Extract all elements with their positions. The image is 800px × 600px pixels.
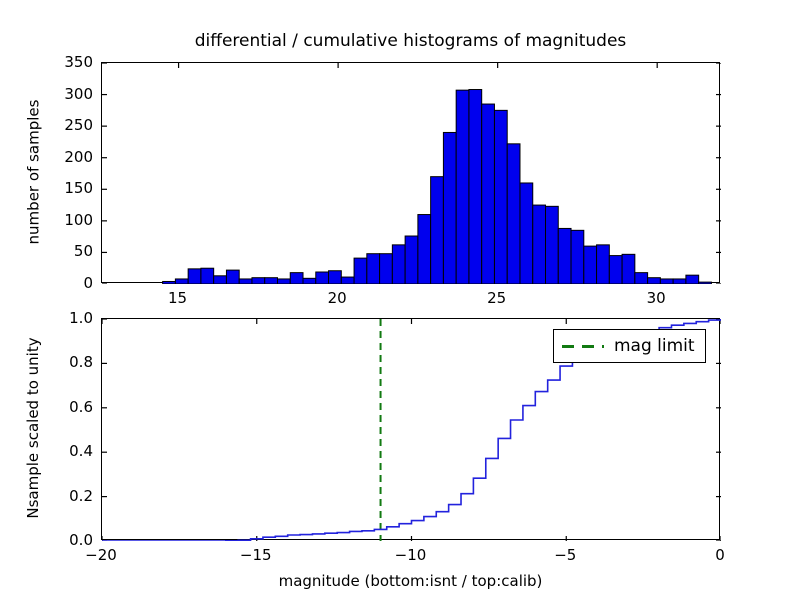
top-panel-y-tick-300: 300 [37, 85, 93, 103]
top-panel-y-tick-200: 200 [37, 148, 93, 166]
top-panel-y-tick-350: 350 [37, 53, 93, 71]
bottom-panel-y-tick-0.6: 0.6 [37, 398, 93, 416]
top-panel-differential-histogram [101, 62, 720, 283]
bottom-panel-x-tick-0: −20 [85, 546, 117, 564]
mag-limit-line-swatch [562, 345, 604, 348]
bottom-panel-x-tick-2: −10 [395, 546, 427, 564]
bottom-panel-x-tick-3: −5 [554, 546, 576, 564]
bottom-panel-y-tick-1.0: 1.0 [37, 309, 93, 327]
top-panel-y-tick-150: 150 [37, 179, 93, 197]
bottom-panel-x-tick-1: −15 [240, 546, 272, 564]
bottom-panel-y-axis-title: Nsample scaled to unity [24, 317, 42, 539]
figure-title: differential / cumulative histograms of … [101, 31, 720, 51]
matplotlib-figure: differential / cumulative histograms of … [0, 0, 800, 600]
top-panel-x-tick-30: 30 [647, 289, 666, 307]
differential-histogram-plot [102, 63, 721, 284]
legend: mag limit [553, 329, 706, 363]
top-panel-y-tick-50: 50 [37, 242, 93, 260]
top-panel-x-tick-25: 25 [487, 289, 506, 307]
bottom-panel-y-tick-0.8: 0.8 [37, 353, 93, 371]
x-axis-title: magnitude (bottom:isnt / top:calib) [101, 572, 720, 590]
top-panel-x-tick-15: 15 [168, 289, 187, 307]
top-panel-y-tick-0: 0 [37, 274, 93, 292]
top-panel-x-tick-20: 20 [328, 289, 347, 307]
top-panel-y-tick-100: 100 [37, 211, 93, 229]
top-panel-y-tick-250: 250 [37, 116, 93, 134]
bottom-panel-y-tick-0.2: 0.2 [37, 487, 93, 505]
legend-label-mag-limit: mag limit [614, 336, 695, 356]
bottom-panel-y-tick-0.4: 0.4 [37, 442, 93, 460]
bottom-panel-x-tick-4: 0 [715, 546, 725, 564]
